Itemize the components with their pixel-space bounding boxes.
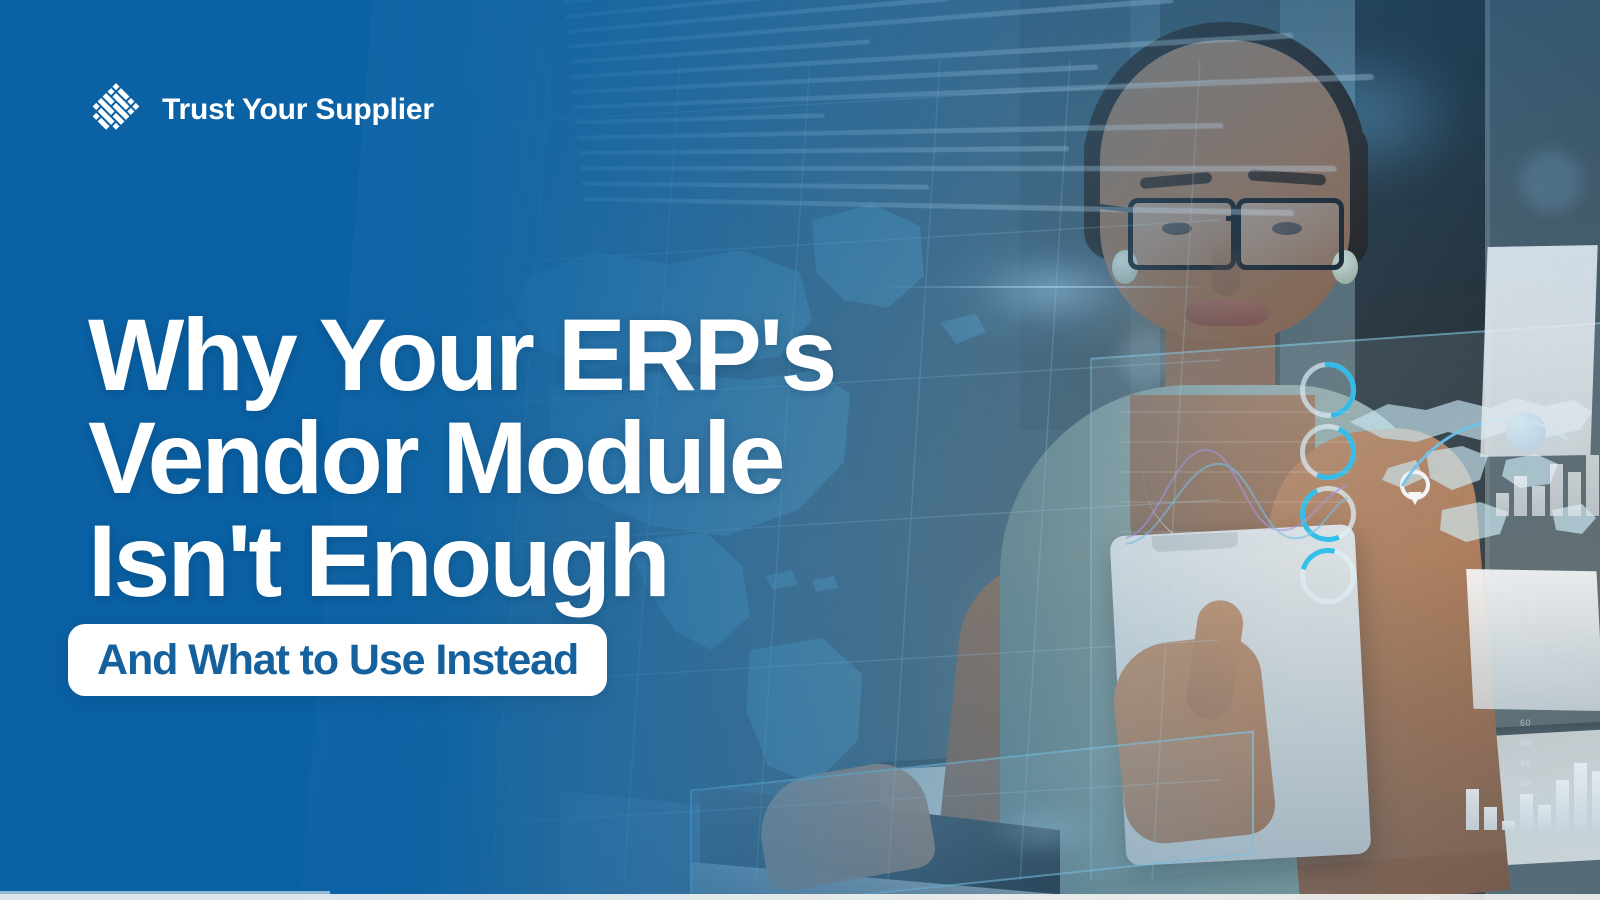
diagonal-weave-diamond-logo-icon <box>88 82 144 138</box>
headline-line-1: Why Your ERP's <box>88 304 1028 407</box>
page-title: Why Your ERP's Vendor Module Isn't Enoug… <box>88 304 1028 613</box>
blog-header-banner: 60 50 40 30 <box>0 0 1600 900</box>
brand-name: Trust Your Supplier <box>162 93 434 127</box>
subtitle-text: And What to Use Instead <box>97 636 578 685</box>
subtitle-pill: And What to Use Instead <box>68 624 607 696</box>
brand-logo[interactable]: Trust Your Supplier <box>88 82 434 138</box>
headline-line-2: Vendor Module <box>88 407 1028 510</box>
headline-line-3: Isn't Enough <box>88 510 1028 613</box>
banner-content: Trust Your Supplier Why Your ERP's Vendo… <box>0 0 1600 900</box>
